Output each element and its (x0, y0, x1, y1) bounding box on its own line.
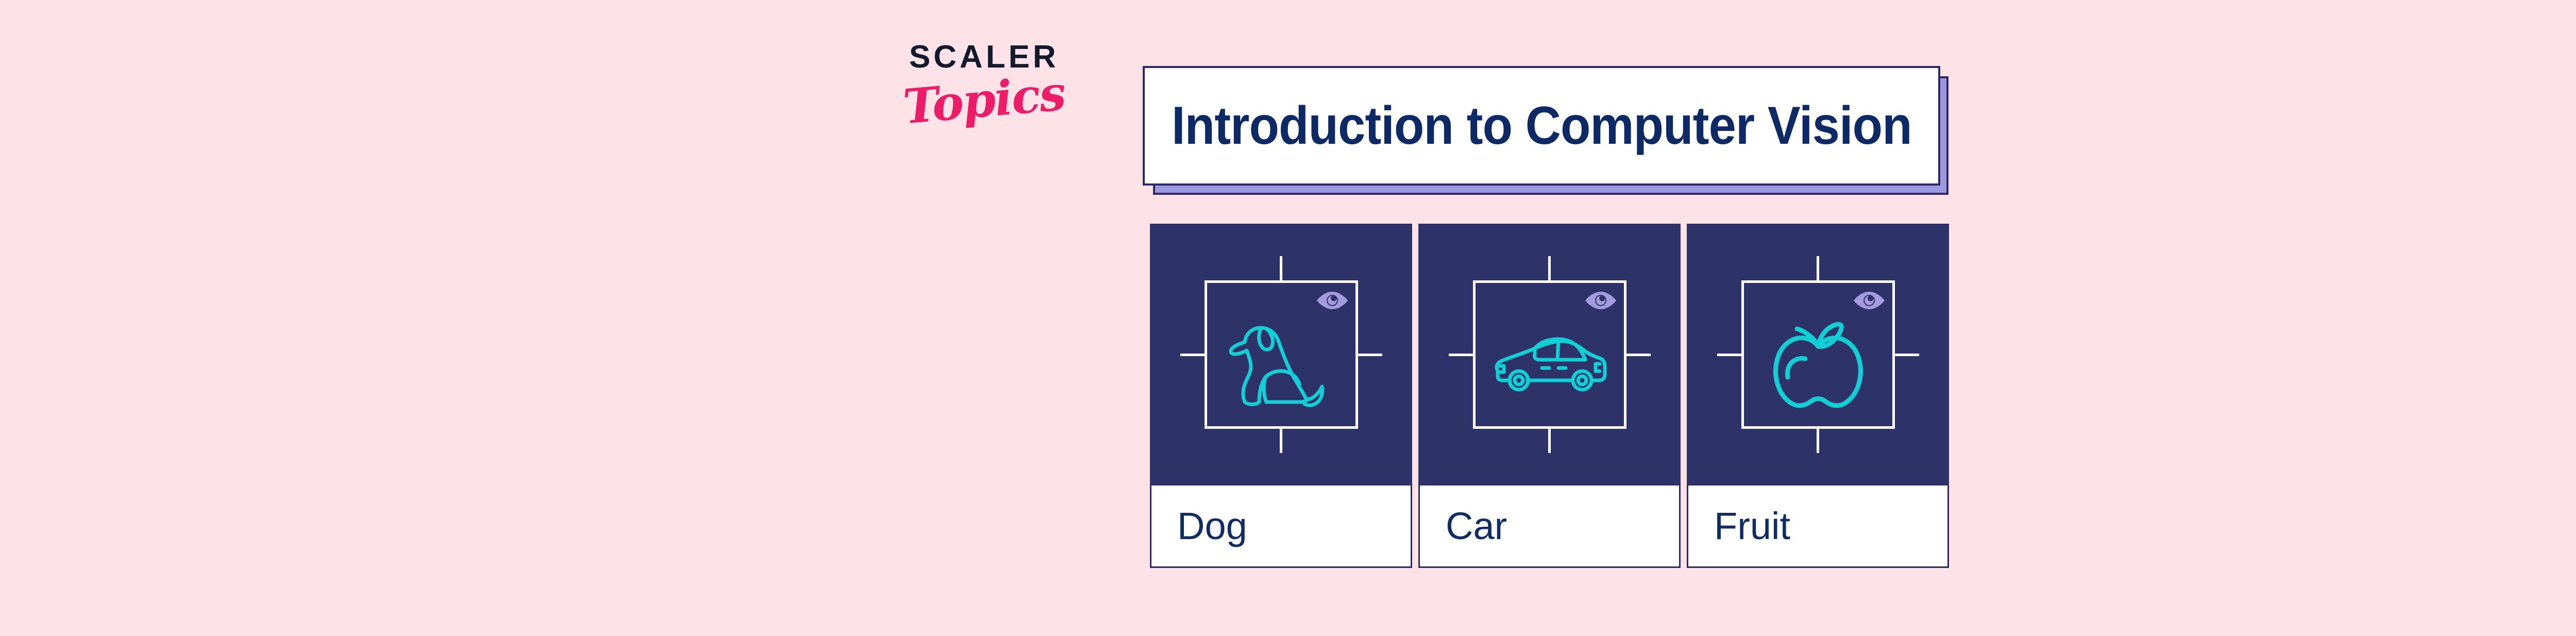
viewfinder-tick-bottom (1280, 426, 1282, 453)
card-label-bar: Dog (1150, 486, 1412, 568)
card-label-text: Car (1446, 507, 1507, 545)
viewfinder-tick-left (1449, 354, 1476, 356)
card-label-bar: Car (1418, 486, 1681, 568)
viewfinder-tick-bottom (1548, 426, 1551, 453)
card-fruit[interactable]: Fruit (1687, 224, 1949, 568)
viewfinder-tick-top (1548, 256, 1551, 283)
card-label-bar: Fruit (1687, 486, 1949, 568)
car-icon (1490, 313, 1609, 416)
viewfinder-tick-top (1280, 256, 1282, 283)
logo-script-topics: Topics (897, 69, 1071, 131)
eye-icon (1853, 290, 1885, 311)
card-label-text: Fruit (1714, 507, 1790, 545)
eye-icon (1585, 290, 1617, 311)
dog-icon (1222, 313, 1341, 416)
title-banner-group: Introduction to Computer Vision (1143, 66, 1948, 195)
scaler-topics-logo: SCALER Topics (899, 41, 1069, 160)
viewfinder-tick-right (1624, 354, 1651, 356)
viewfinder-tick-top (1817, 256, 1819, 283)
viewfinder-tick-right (1355, 354, 1382, 356)
card-image-area (1150, 224, 1412, 486)
card-image-area (1418, 224, 1681, 486)
viewfinder-tick-right (1892, 354, 1919, 356)
apple-icon (1759, 313, 1877, 416)
page-title: Introduction to Computer Vision (1172, 99, 1912, 153)
classification-card-row: Dog (1150, 224, 1950, 568)
eye-icon (1316, 290, 1348, 311)
card-image-area (1687, 224, 1949, 486)
viewfinder-tick-bottom (1817, 426, 1819, 453)
viewfinder-tick-left (1717, 354, 1744, 356)
card-label-text: Dog (1177, 507, 1247, 545)
card-dog[interactable]: Dog (1150, 224, 1412, 568)
viewfinder-tick-left (1180, 354, 1207, 356)
title-banner: Introduction to Computer Vision (1143, 66, 1940, 186)
card-car[interactable]: Car (1418, 224, 1681, 568)
